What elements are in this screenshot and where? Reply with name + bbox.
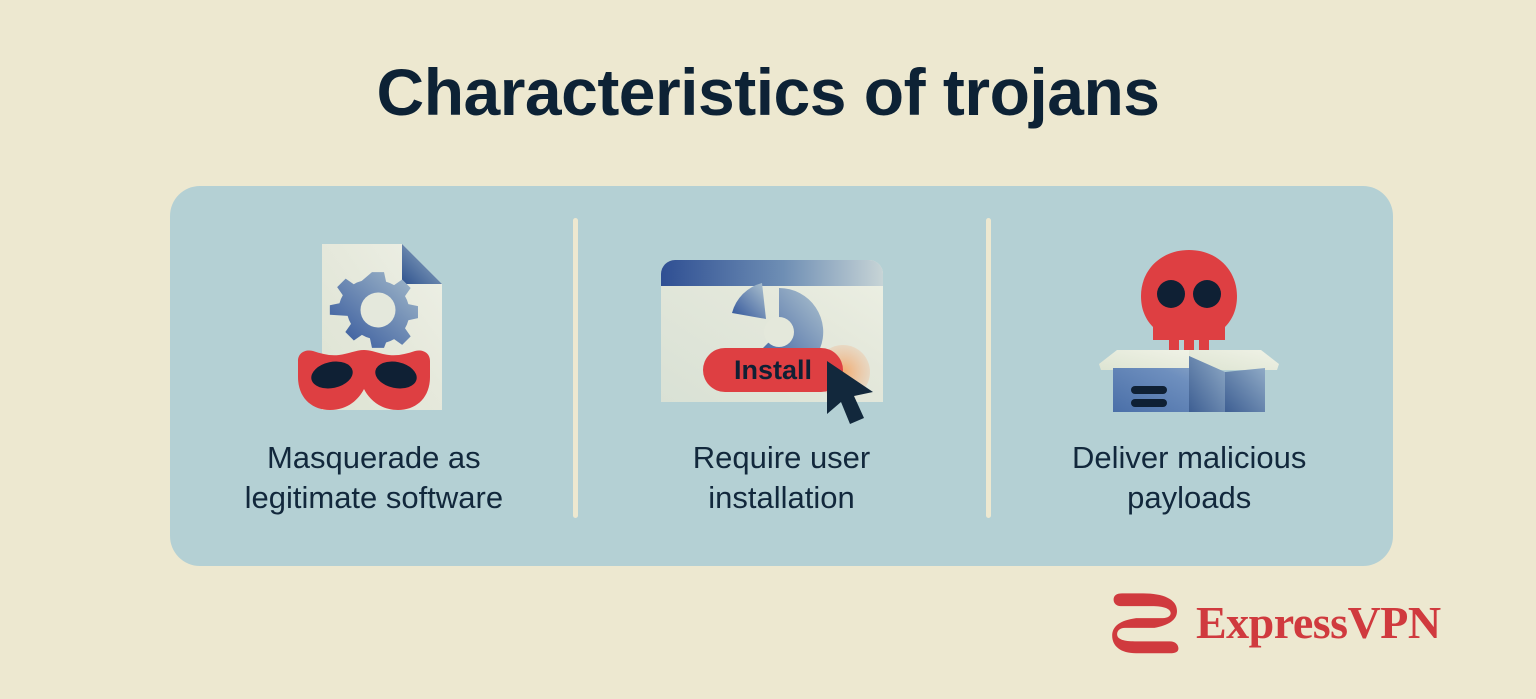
columns-container: Masquerade as legitimate software	[170, 186, 1393, 566]
page-title: Characteristics of trojans	[0, 56, 1536, 129]
characteristics-card: Masquerade as legitimate software	[170, 186, 1393, 566]
window-titlebar	[661, 260, 883, 286]
skull-eye-left	[1157, 280, 1185, 308]
install-button-label: Install	[733, 355, 811, 385]
open-box-skull-icon	[1064, 224, 1314, 424]
infographic-page: Characteristics of trojans	[0, 0, 1536, 699]
expressvpn-wordmark: ExpressVPN	[1196, 600, 1441, 646]
box-flap-left	[1099, 350, 1189, 370]
column-masquerade: Masquerade as legitimate software	[170, 186, 578, 566]
install-window-cursor-icon: Install	[657, 224, 907, 424]
box-label-bar-2	[1131, 399, 1167, 407]
column-label-masquerade: Masquerade as legitimate software	[245, 438, 503, 517]
column-label-install: Require user installation	[693, 438, 870, 517]
skull-shape	[1141, 250, 1237, 354]
column-payloads: Deliver malicious payloads	[985, 186, 1393, 566]
expressvpn-e-mark-icon	[1110, 592, 1182, 654]
box-right-panel	[1225, 368, 1265, 412]
document-fold	[402, 244, 442, 284]
document-gear-mask-icon	[249, 224, 499, 424]
skull-eye-right	[1193, 280, 1221, 308]
column-install: Install Require user installation	[578, 186, 986, 566]
box-label-bar-1	[1131, 386, 1167, 394]
expressvpn-logo: ExpressVPN	[1110, 592, 1441, 654]
install-button: Install	[703, 348, 843, 392]
column-label-payloads: Deliver malicious payloads	[1072, 438, 1306, 517]
